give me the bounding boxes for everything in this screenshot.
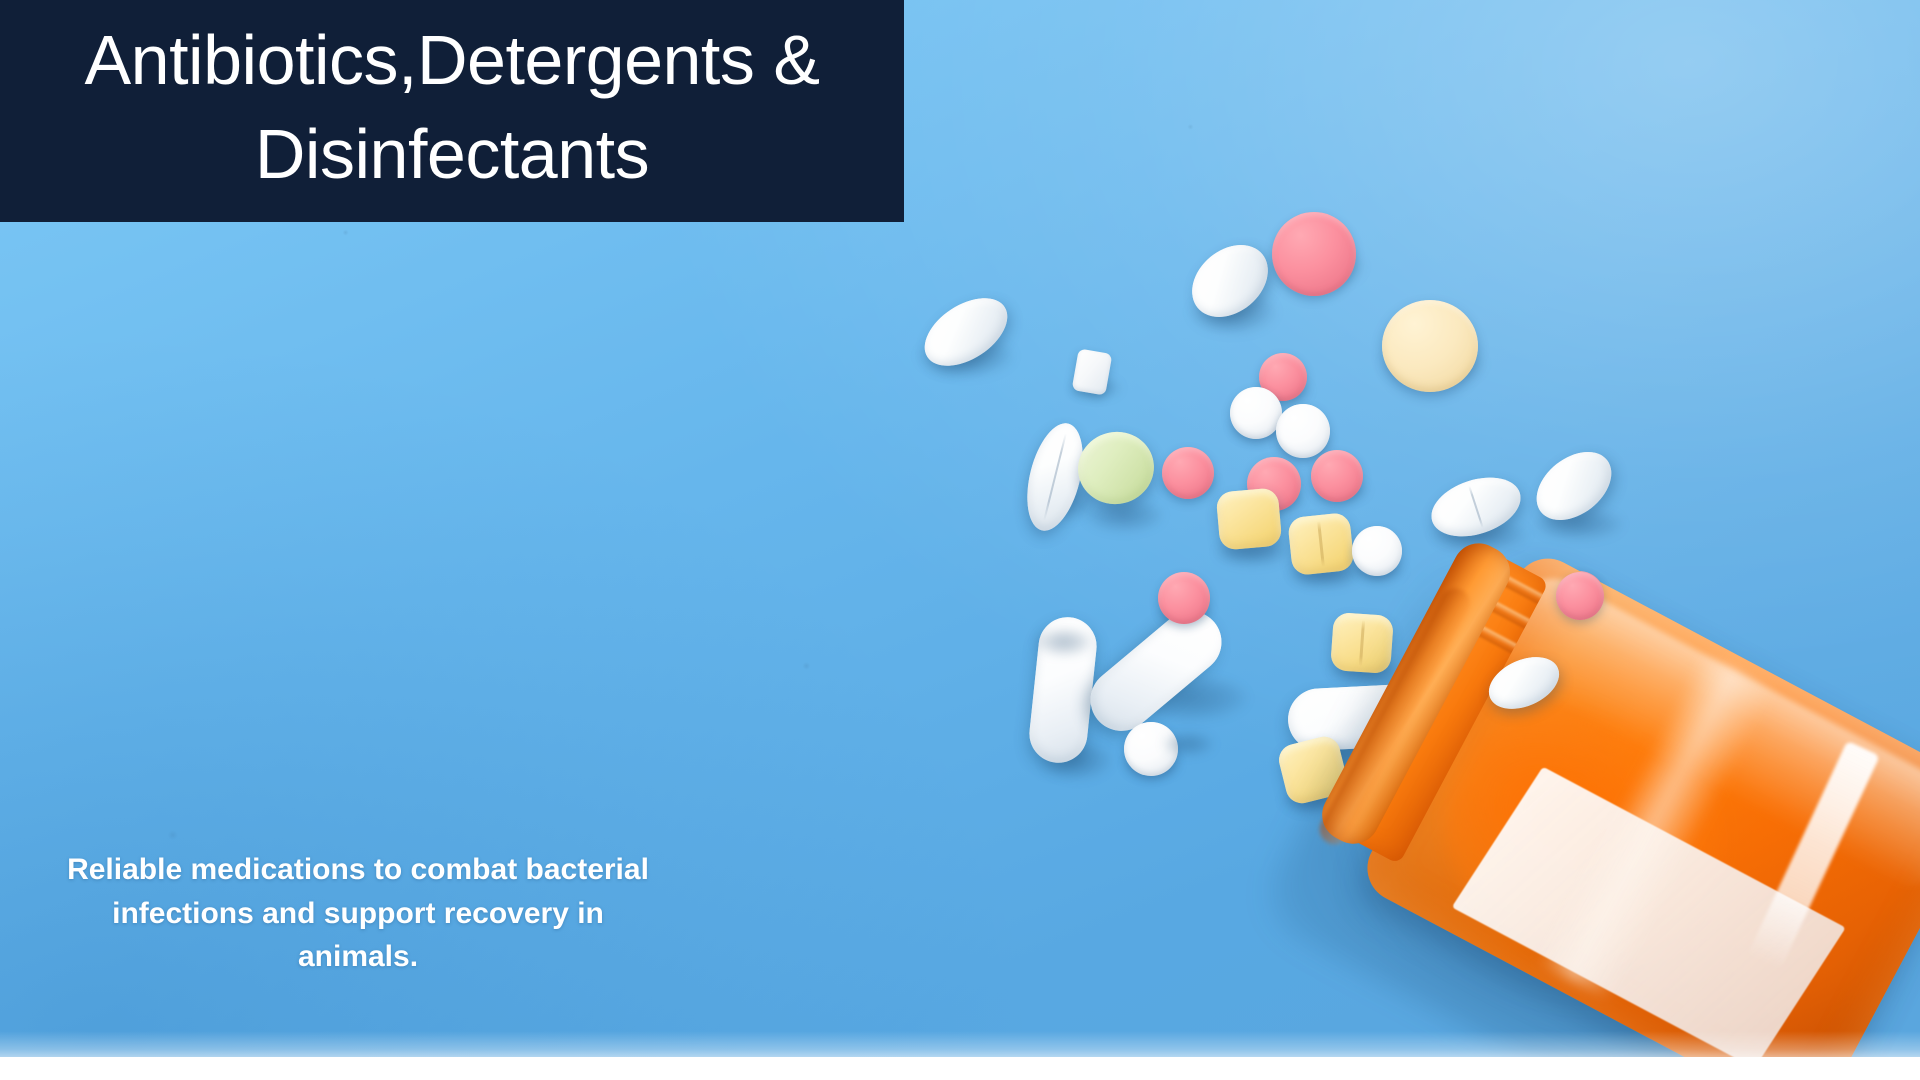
pill-shadow xyxy=(1162,732,1214,756)
pill-round-pink-p31 xyxy=(1556,572,1604,620)
pill-round-cream-p04 xyxy=(1382,300,1478,392)
title-banner: Antibiotics,Detergents & Disinfectants xyxy=(0,0,904,222)
page-title: Antibiotics,Detergents & Disinfectants xyxy=(8,14,896,208)
pill-edge-white-p06 xyxy=(1072,348,1113,395)
pill-square-yellow-p15 xyxy=(1287,512,1355,576)
pill-square-yellow-p14 xyxy=(1216,487,1283,550)
pill-square-yellow-p24 xyxy=(1330,612,1394,674)
pill-round-pink-p13 xyxy=(1311,450,1363,502)
pill-round-pink-p11 xyxy=(1162,447,1214,499)
pill-round-white-p08 xyxy=(1276,404,1330,458)
bottom-white-strip xyxy=(0,1057,1920,1080)
pill-round-white-p16 xyxy=(1352,526,1402,576)
pill-round-pink-p03 xyxy=(1272,212,1356,296)
slide-canvas: Antibiotics,Detergents & Disinfectants R… xyxy=(0,0,1920,1080)
subtitle-text: Reliable medications to combat bacterial… xyxy=(48,848,668,979)
pill-round-white-p07 xyxy=(1230,387,1282,439)
photo-bottom-fade xyxy=(0,1031,1920,1057)
